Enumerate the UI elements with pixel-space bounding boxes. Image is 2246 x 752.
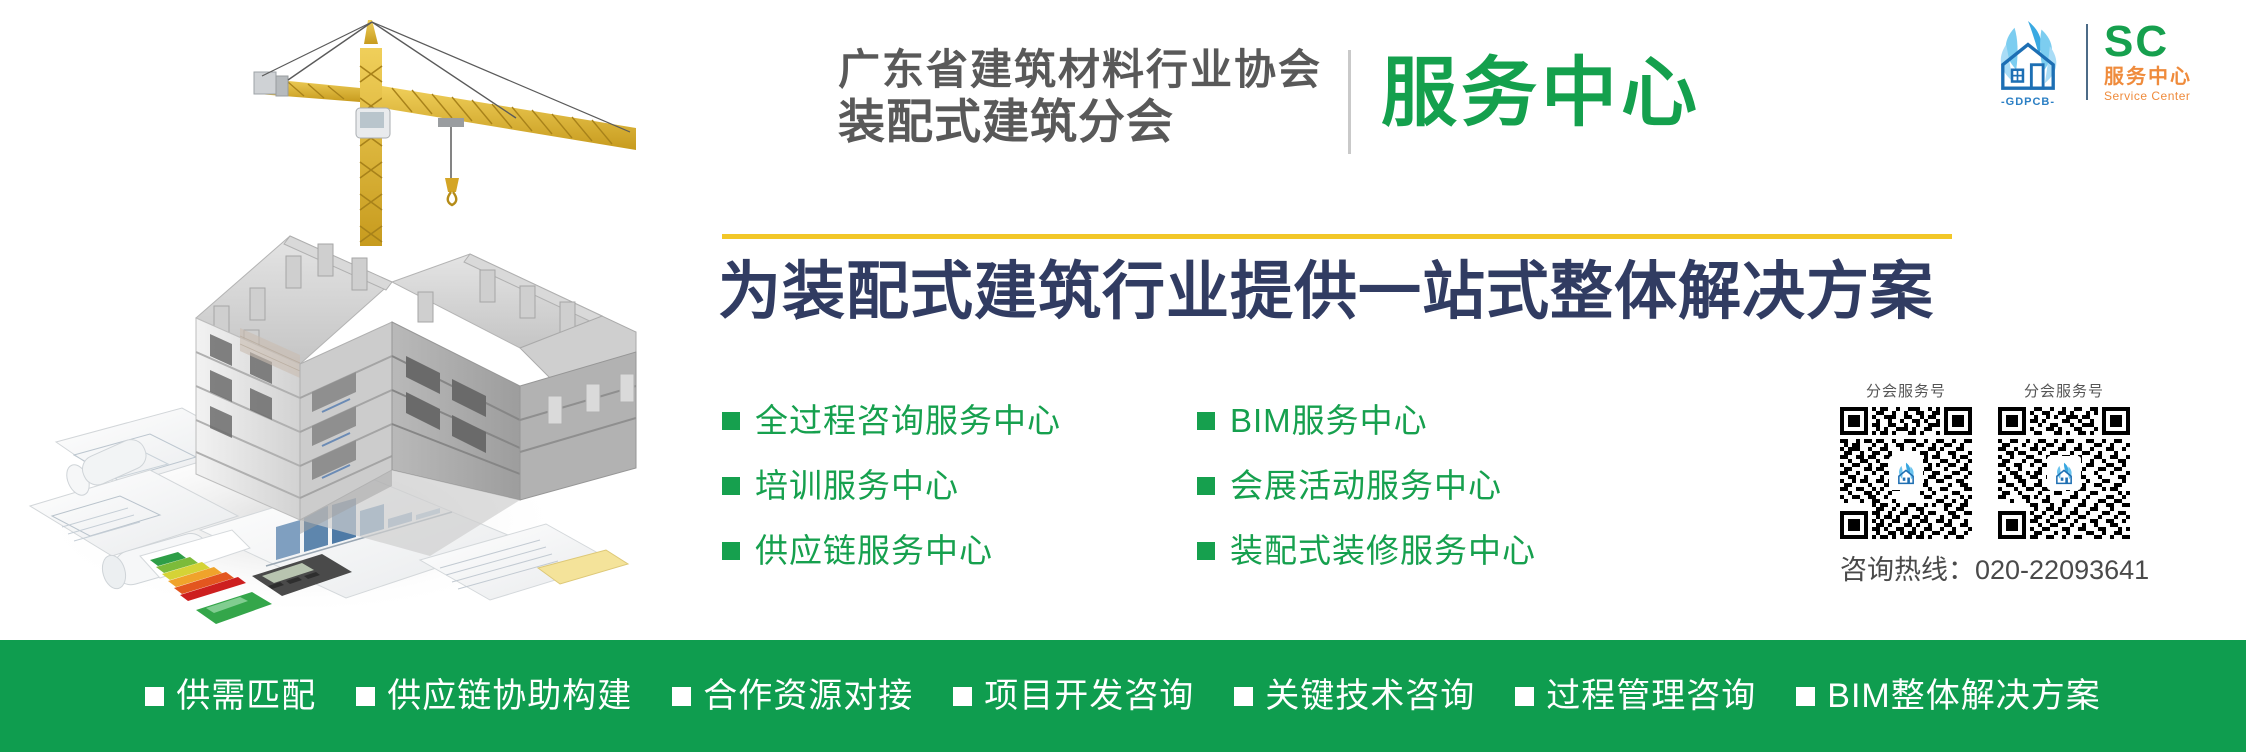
logo-separator [2086, 24, 2088, 100]
service-column-left: 全过程咨询服务中心 培训服务中心 供应链服务中心 [722, 404, 1061, 567]
bar-item[interactable]: BIM整体解决方案 [1796, 679, 2100, 713]
square-bullet-icon [1197, 477, 1215, 495]
qr-code-icon[interactable] [1840, 407, 1972, 539]
association-name-line2: 装配式建筑分会 [838, 97, 1322, 147]
association-name-line1: 广东省建筑材料行业协会 [838, 48, 1322, 93]
logo-text-group: SC 服务中心 Service Center [2104, 21, 2192, 103]
promotional-banner: 广东省建筑材料行业协会 装配式建筑分会 服务中心 为装配式建筑行业提供一站式整体… [0, 0, 2246, 752]
bar-item-label: 供应链协助构建 [387, 679, 632, 713]
service-item[interactable]: 会展活动服务中心 [1197, 469, 1536, 502]
bar-item[interactable]: 供需匹配 [145, 679, 316, 713]
page-tagline: 为装配式建筑行业提供一站式整体解决方案 [718, 258, 1934, 327]
square-bullet-icon [1796, 687, 1815, 706]
service-center-lists: 全过程咨询服务中心 培训服务中心 供应链服务中心 BIM服务中心 会展活动服务中… [722, 404, 1536, 567]
bar-item-label: 关键技术咨询 [1265, 679, 1475, 713]
square-bullet-icon [672, 687, 691, 706]
bar-item[interactable]: 关键技术咨询 [1234, 679, 1475, 713]
bottom-capability-bar: 供需匹配 供应链协助构建 合作资源对接 项目开发咨询 关键技术咨询 过程管理咨询… [0, 640, 2246, 752]
service-column-right: BIM服务中心 会展活动服务中心 装配式装修服务中心 [1197, 404, 1536, 567]
bar-item-label: 项目开发咨询 [984, 679, 1194, 713]
service-item[interactable]: 培训服务中心 [722, 469, 1061, 502]
service-item-label: 培训服务中心 [755, 469, 959, 502]
service-item-label: 装配式装修服务中心 [1230, 534, 1536, 567]
bar-item[interactable]: 项目开发咨询 [953, 679, 1194, 713]
bar-item-label: 供需匹配 [176, 679, 316, 713]
square-bullet-icon [722, 412, 740, 430]
square-bullet-icon [722, 477, 740, 495]
yellow-divider-rule [722, 234, 1952, 239]
construction-illustration [0, 0, 640, 640]
square-bullet-icon [722, 542, 740, 560]
service-item-label: 全过程咨询服务中心 [755, 404, 1061, 437]
header-block: 广东省建筑材料行业协会 装配式建筑分会 服务中心 [838, 48, 1701, 154]
qr-code-icon[interactable] [1998, 407, 2130, 539]
service-item[interactable]: 供应链服务中心 [722, 534, 1061, 567]
qr-code-cell[interactable]: 分会服务号 [1840, 380, 1972, 539]
qr-code-row: 分会服务号 [1840, 380, 2150, 539]
association-names: 广东省建筑材料行业协会 装配式建筑分会 [838, 48, 1348, 147]
square-bullet-icon [145, 687, 164, 706]
qr-code-caption: 分会服务号 [1998, 380, 2130, 401]
logo-sc-abbrev: SC [2104, 21, 2169, 63]
brand-logo-block[interactable]: -GDPCB- SC 服务中心 Service Center [1986, 16, 2192, 108]
service-item[interactable]: 装配式装修服务中心 [1197, 534, 1536, 567]
service-center-title: 服务中心 [1381, 56, 1701, 132]
qr-code-caption: 分会服务号 [1840, 380, 1972, 401]
qr-contact-block: 分会服务号 [1840, 380, 2150, 587]
bar-item-label: 合作资源对接 [703, 679, 913, 713]
header-divider [1348, 50, 1351, 154]
square-bullet-icon [953, 687, 972, 706]
hotline-text: 咨询热线：020-22093641 [1840, 548, 2150, 587]
square-bullet-icon [1234, 687, 1253, 706]
tower-crane [254, 20, 636, 246]
square-bullet-icon [356, 687, 375, 706]
qr-embedded-logo-icon [2047, 456, 2081, 490]
logo-en-label: Service Center [2104, 89, 2190, 103]
qr-code-cell[interactable]: 分会服务号 [1998, 380, 2130, 539]
square-bullet-icon [1197, 542, 1215, 560]
bar-item[interactable]: 供应链协助构建 [356, 679, 632, 713]
service-item-label: 会展活动服务中心 [1230, 469, 1502, 502]
logo-cn-label: 服务中心 [2104, 65, 2192, 89]
square-bullet-icon [1197, 412, 1215, 430]
bar-item[interactable]: 合作资源对接 [672, 679, 913, 713]
bar-item[interactable]: 过程管理咨询 [1515, 679, 1756, 713]
service-item[interactable]: BIM服务中心 [1197, 404, 1536, 437]
bar-item-label: BIM整体解决方案 [1827, 679, 2100, 713]
gdpcb-house-flame-icon [1986, 16, 2070, 100]
service-item-label: 供应链服务中心 [755, 534, 993, 567]
service-item[interactable]: 全过程咨询服务中心 [722, 404, 1061, 437]
bar-item-label: 过程管理咨询 [1546, 679, 1756, 713]
service-item-label: BIM服务中心 [1230, 404, 1428, 437]
qr-embedded-logo-icon [1889, 456, 1923, 490]
square-bullet-icon [1515, 687, 1534, 706]
